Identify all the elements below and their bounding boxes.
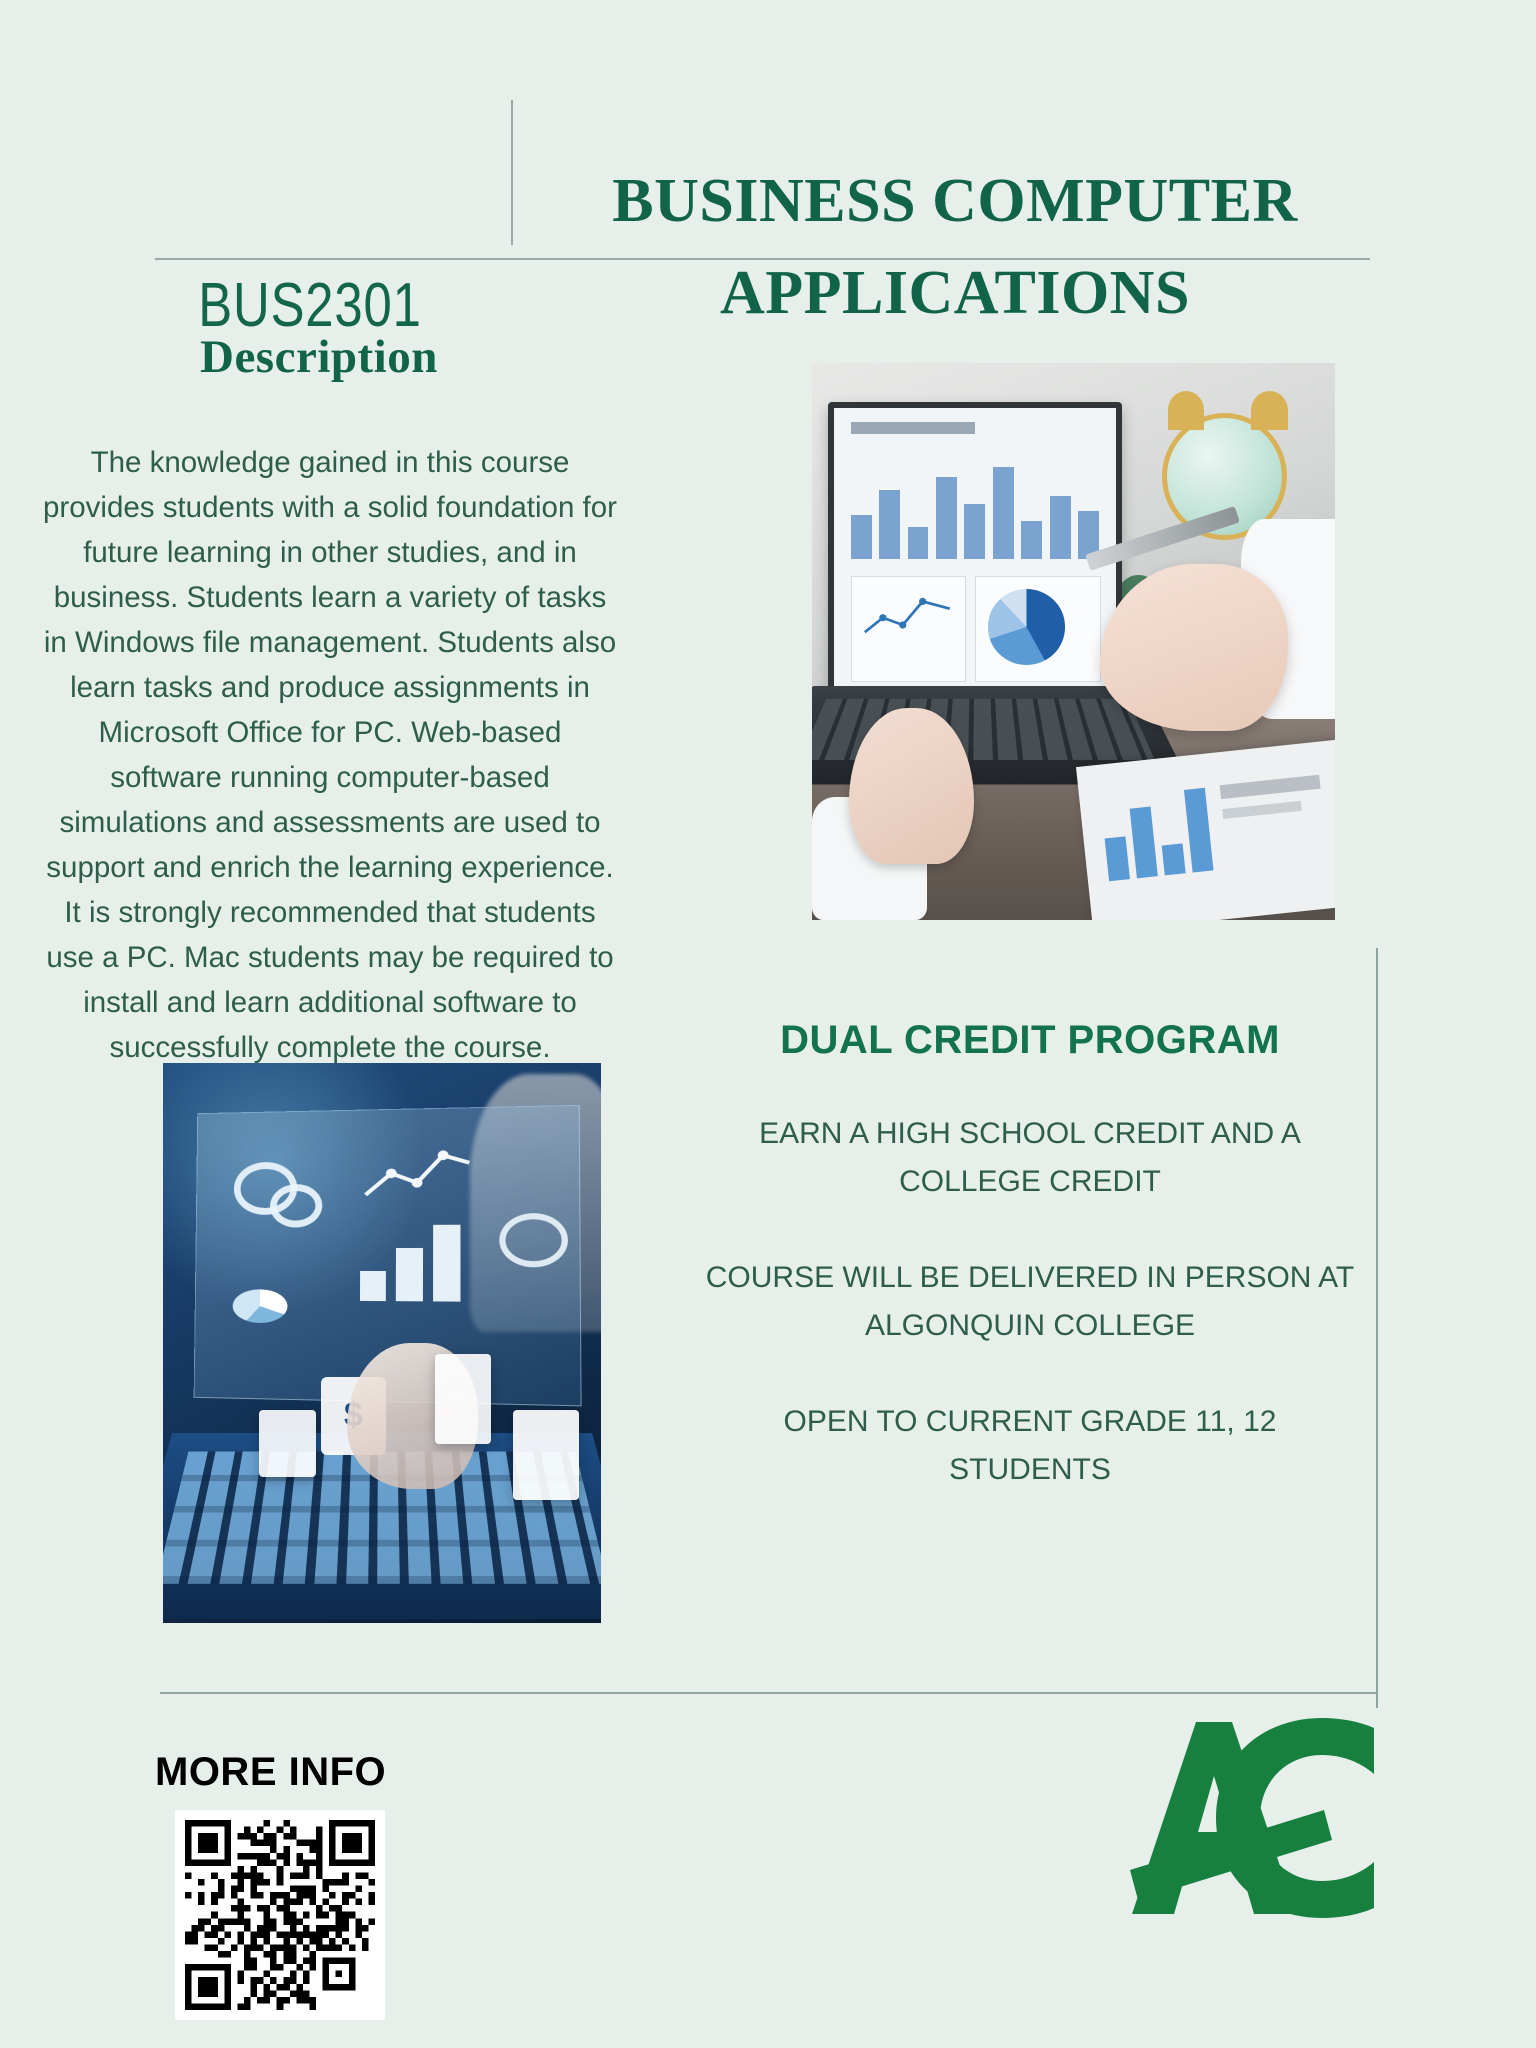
gears-icon <box>226 1151 323 1226</box>
qr-code[interactable] <box>175 1810 385 2020</box>
magnifier-icon <box>500 1213 569 1267</box>
line-chart-icon <box>863 587 953 641</box>
report-bar-chart <box>1100 784 1213 881</box>
poster-header: BUS2301 BUSINESS COMPUTER APPLICATIONS <box>0 100 1536 350</box>
description-body: The knowledge gained in this course prov… <box>40 440 620 1070</box>
screen-title-bar <box>851 422 975 434</box>
data-analytics-laptop-photo: $ <box>163 1063 601 1623</box>
dual-credit-details: EARN A HIGH SCHOOL CREDIT AND A COLLEGE … <box>700 1110 1360 1494</box>
clock-bell-right <box>1251 391 1288 430</box>
trend-line-icon <box>364 1143 472 1202</box>
more-info-label: MORE INFO <box>155 1750 386 1795</box>
poster-root: BUS2301 BUSINESS COMPUTER APPLICATIONS D… <box>0 0 1536 2048</box>
bar-card-icon <box>513 1410 579 1500</box>
description-heading: Description <box>200 330 438 384</box>
screen-pie-chart-panel <box>975 576 1101 682</box>
laptop-screen <box>828 402 1122 704</box>
screen-line-chart-panel <box>851 576 966 682</box>
document-card-icon <box>435 1354 492 1444</box>
bar-chart-icon <box>360 1225 461 1302</box>
course-title: BUSINESS COMPUTER APPLICATIONS <box>530 155 1380 339</box>
qr-code-canvas[interactable] <box>185 1820 375 2010</box>
dots-card-icon <box>259 1410 316 1477</box>
footer-divider <box>160 1692 1378 1694</box>
pie-chart-icon <box>232 1289 288 1324</box>
vertical-divider <box>1376 948 1378 1708</box>
header-vertical-divider <box>511 100 513 245</box>
left-hand <box>849 708 975 864</box>
dual-credit-line-3: OPEN TO CURRENT GRADE 11, 12 STUDENTS <box>700 1398 1360 1494</box>
dual-credit-line-2: COURSE WILL BE DELIVERED IN PERSON AT AL… <box>700 1254 1360 1350</box>
printed-report <box>1076 740 1335 920</box>
algonquin-college-ac-logo <box>1128 1718 1378 1918</box>
report-text-line-2 <box>1222 801 1301 819</box>
report-text-line-1 <box>1220 775 1320 799</box>
screen-bar-chart <box>851 454 1100 558</box>
ac-logo-mark <box>1128 1718 1378 1918</box>
dual-credit-line-1: EARN A HIGH SCHOOL CREDIT AND A COLLEGE … <box>700 1110 1360 1206</box>
clock-bell-left <box>1168 391 1205 430</box>
dual-credit-heading: DUAL CREDIT PROGRAM <box>700 1018 1360 1063</box>
donut-chart-icon <box>988 589 1065 664</box>
laptop-charts-photo <box>812 363 1335 920</box>
